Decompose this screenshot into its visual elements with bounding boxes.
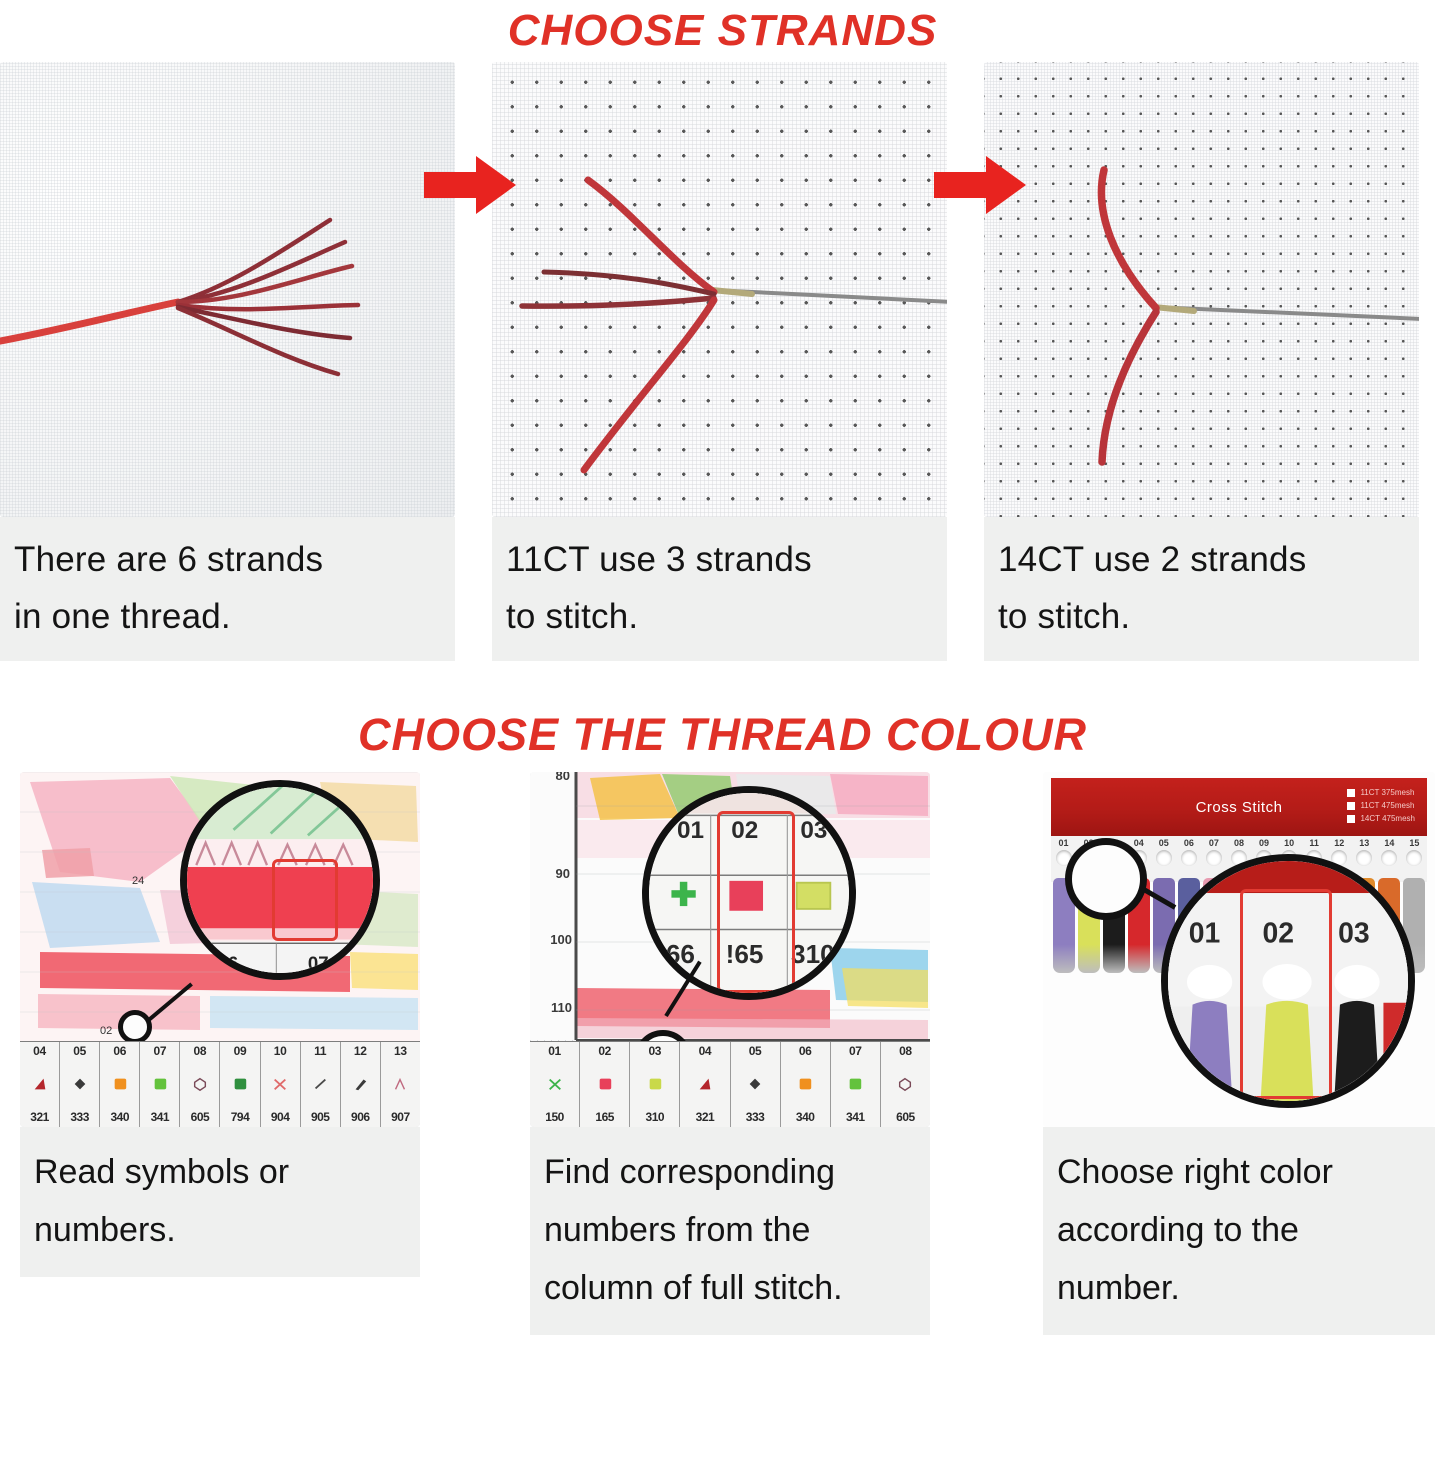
photo-thread-organizer: Cross Stitch 11CT 375mesh11CT 475mesh14C…	[1043, 772, 1435, 1127]
legend-thread-code: 794	[231, 1110, 250, 1124]
checkbox-icon[interactable]	[1347, 789, 1355, 797]
triangle-icon	[31, 1076, 49, 1092]
legend-number: 07	[849, 1044, 862, 1058]
caption-read-symbols: Read symbols or numbers.	[20, 1127, 420, 1277]
photo-six-strands	[0, 62, 455, 517]
checkbox-icon[interactable]	[1347, 815, 1355, 823]
arrow-right-icon	[420, 150, 520, 220]
caption-line: Read symbols or	[34, 1143, 408, 1201]
chart-axis-labels-left	[22, 772, 64, 1041]
svg-text:80: 80	[556, 772, 570, 783]
colour-card-row: 24 02	[0, 772, 1445, 1472]
organizer-option[interactable]: 11CT 375mesh	[1347, 788, 1415, 797]
legend-thread-code: 333	[70, 1110, 89, 1124]
legend-number: 07	[153, 1044, 166, 1058]
caption-11ct: 11CT use 3 strands to stitch.	[492, 517, 947, 661]
brush-icon	[351, 1076, 369, 1092]
thread-peg-number: 14	[1384, 838, 1394, 848]
colour-card-find-numbers: 80 90 100 110 01 02 03	[530, 772, 930, 1335]
caption-line: There are 6 strands	[14, 531, 441, 588]
legend-cell: 02165	[580, 1042, 630, 1127]
legend-thread-code: 605	[191, 1110, 210, 1124]
green-square-icon	[151, 1076, 169, 1092]
caption-line: according to the	[1057, 1201, 1423, 1259]
strands-card-row: There are 6 strands in one thread. 11CT …	[0, 62, 1445, 702]
caption-find-numbers: Find corresponding numbers from the colu…	[530, 1127, 930, 1335]
legend-number: 13	[394, 1044, 407, 1058]
caption-line: Choose right color	[1057, 1143, 1423, 1201]
caption-14ct: 14CT use 2 strands to stitch.	[984, 517, 1419, 661]
checkbox-icon[interactable]	[1347, 802, 1355, 810]
organizer-option-list: 11CT 375mesh11CT 475mesh14CT 475mesh	[1347, 788, 1415, 823]
three-strands-and-needle-illustration	[492, 62, 947, 517]
legend-thread-code: 333	[746, 1110, 765, 1124]
legend-number: 09	[234, 1044, 247, 1058]
thread-peg-number: 08	[1234, 838, 1244, 848]
legend-thread-code: 341	[846, 1110, 865, 1124]
caption-line: Find corresponding	[544, 1143, 918, 1201]
legend-thread-code: 321	[696, 1110, 715, 1124]
caption-line: in one thread.	[14, 588, 441, 645]
diagonal-line-icon	[311, 1076, 329, 1092]
legend-number: 10	[274, 1044, 287, 1058]
two-strands-and-needle-illustration	[984, 62, 1419, 517]
organizer-option[interactable]: 11CT 475mesh	[1347, 801, 1415, 810]
legend-cell: 06340	[100, 1042, 140, 1127]
legend-number: 08	[194, 1044, 207, 1058]
diamond-icon	[71, 1076, 89, 1092]
svg-text:66: 66	[666, 939, 695, 969]
organizer-option-label: 14CT 475mesh	[1360, 814, 1415, 823]
legend-cell: 10904	[261, 1042, 301, 1127]
triangle-icon	[696, 1076, 714, 1092]
svg-text:07: 07	[308, 952, 329, 973]
caption-line: column of full stitch.	[544, 1259, 918, 1317]
legend-thread-code: 605	[896, 1110, 915, 1124]
photo-pattern-chart-numbers: 80 90 100 110 01 02 03	[530, 772, 930, 1127]
six-strand-threads-illustration	[0, 62, 455, 517]
section-heading-choose-strands: CHOOSE STRANDS	[0, 0, 1445, 62]
orange-square-icon	[796, 1076, 814, 1092]
strands-card-6-strands: There are 6 strands in one thread.	[0, 62, 455, 702]
legend-cell: 05333	[731, 1042, 781, 1127]
legend-number: 05	[749, 1044, 762, 1058]
thread-peg-number: 15	[1409, 838, 1419, 848]
caption-line: 11CT use 3 strands	[506, 531, 933, 588]
photo-14ct-aida	[984, 62, 1419, 517]
legend-cell: 07341	[140, 1042, 180, 1127]
legend-number: 04	[33, 1044, 46, 1058]
magnifier-thread-numbers: 01 02 03	[1161, 854, 1415, 1108]
thread-peg-number: 11	[1309, 838, 1319, 848]
legend-cell: 13907	[381, 1042, 420, 1127]
thread-peg-number: 06	[1184, 838, 1194, 848]
thread-peg-number: 04	[1134, 838, 1144, 848]
dark-green-square-icon	[231, 1076, 249, 1092]
organizer-option-label: 11CT 375mesh	[1360, 788, 1414, 797]
cross-icon	[546, 1076, 564, 1092]
legend-number: 11	[314, 1044, 326, 1058]
svg-text:24: 24	[132, 875, 144, 887]
highlight-box-symbol	[272, 859, 338, 941]
colour-card-read-symbols: 24 02	[20, 772, 420, 1277]
svg-text:100: 100	[550, 932, 572, 947]
hexagon-outline-icon	[191, 1076, 209, 1092]
thread-peg-number: 09	[1259, 838, 1269, 848]
svg-text:03: 03	[1338, 917, 1370, 949]
thread-peg-number: 01	[1059, 838, 1069, 848]
legend-thread-code: 321	[30, 1110, 49, 1124]
magnifier-numbers: 01 02 03 66 !65 310	[642, 786, 856, 1000]
caption-line: numbers from the	[544, 1201, 918, 1259]
caption-line: numbers.	[34, 1201, 408, 1259]
peg-hole-icon	[1406, 850, 1422, 866]
legend-number: 06	[799, 1044, 812, 1058]
legend-number: 01	[548, 1044, 561, 1058]
legend-number: 06	[113, 1044, 126, 1058]
legend-cell: 06340	[781, 1042, 831, 1127]
legend-thread-code: 165	[595, 1110, 614, 1124]
legend-number: 08	[899, 1044, 912, 1058]
legend-cell: 08605	[881, 1042, 930, 1127]
svg-text:02: 02	[100, 1025, 112, 1037]
thread-peg-number: 10	[1284, 838, 1294, 848]
photo-pattern-chart-symbols: 24 02	[20, 772, 420, 1127]
svg-text:6: 6	[228, 952, 238, 973]
highlight-box-thread-02	[1240, 889, 1332, 1099]
legend-thread-code: 150	[545, 1110, 564, 1124]
thread-peg-number: 12	[1334, 838, 1344, 848]
cross-icon	[271, 1076, 289, 1092]
svg-text:310: 310	[791, 939, 835, 969]
strands-card-14ct: 14CT use 2 strands to stitch.	[984, 62, 1419, 702]
legend-thread-code: 907	[391, 1110, 410, 1124]
svg-text:01: 01	[677, 817, 704, 844]
thread-peg-number: 05	[1159, 838, 1169, 848]
legend-number: 05	[73, 1044, 86, 1058]
thread-peg-number: 13	[1359, 838, 1369, 848]
chevron-icon	[391, 1076, 409, 1092]
green-square-icon	[846, 1076, 864, 1092]
magnifier-target-circle	[1065, 838, 1147, 920]
legend-number: 04	[699, 1044, 712, 1058]
organizer-option[interactable]: 14CT 475mesh	[1347, 814, 1415, 823]
caption-line: to stitch.	[506, 588, 933, 645]
orange-square-icon	[111, 1076, 129, 1092]
svg-text:90: 90	[556, 866, 570, 881]
organizer-title: Cross Stitch	[1196, 799, 1283, 816]
caption-choose-colour: Choose right color according to the numb…	[1043, 1127, 1435, 1335]
number-legend-table: 0115002165033100432105333063400734108605	[530, 1041, 930, 1127]
hexagon-outline-icon	[896, 1076, 914, 1092]
legend-thread-code: 904	[271, 1110, 290, 1124]
svg-text:110: 110	[551, 1000, 572, 1015]
arrow-right-icon	[930, 150, 1030, 220]
diamond-icon	[746, 1076, 764, 1092]
svg-text:01: 01	[1189, 917, 1221, 949]
legend-thread-code: 341	[151, 1110, 170, 1124]
organizer-header: Cross Stitch 11CT 375mesh11CT 475mesh14C…	[1051, 778, 1427, 836]
legend-number: 02	[598, 1044, 611, 1058]
section-heading-choose-thread-colour: CHOOSE THE THREAD COLOUR	[0, 702, 1445, 772]
legend-thread-code: 906	[351, 1110, 370, 1124]
symbol-legend-table: 0432105333063400734108605097941090411905…	[20, 1041, 420, 1127]
organizer-option-label: 11CT 475mesh	[1360, 801, 1414, 810]
legend-cell: 08605	[180, 1042, 220, 1127]
colour-card-choose-colour: Cross Stitch 11CT 375mesh11CT 475mesh14C…	[1043, 772, 1435, 1335]
legend-cell: 01150	[530, 1042, 580, 1127]
magnifier-symbols: 07 6	[180, 780, 380, 980]
strands-card-11ct: 11CT use 3 strands to stitch.	[492, 62, 947, 702]
legend-number: 12	[354, 1044, 367, 1058]
legend-thread-code: 310	[646, 1110, 665, 1124]
legend-cell: 05333	[60, 1042, 100, 1127]
svg-text:03: 03	[800, 817, 827, 844]
yellow-square-icon	[646, 1076, 664, 1092]
legend-cell: 07341	[831, 1042, 881, 1127]
legend-thread-code: 905	[311, 1110, 330, 1124]
legend-cell: 04321	[680, 1042, 730, 1127]
legend-cell: 09794	[220, 1042, 260, 1127]
legend-cell: 04321	[20, 1042, 60, 1127]
legend-cell: 03310	[630, 1042, 680, 1127]
caption-line: to stitch.	[998, 588, 1405, 645]
caption-6-strands: There are 6 strands in one thread.	[0, 517, 455, 661]
legend-thread-code: 340	[110, 1110, 129, 1124]
legend-thread-code: 340	[796, 1110, 815, 1124]
thread-peg-number: 07	[1209, 838, 1219, 848]
photo-11ct-aida	[492, 62, 947, 517]
legend-number: 03	[648, 1044, 661, 1058]
highlight-box-column-02	[717, 811, 795, 993]
caption-line: number.	[1057, 1259, 1423, 1317]
pink-square-icon	[596, 1076, 614, 1092]
caption-line: 14CT use 2 strands	[998, 531, 1405, 588]
legend-cell: 12906	[341, 1042, 381, 1127]
magnifier-target-circle	[118, 1010, 152, 1044]
legend-cell: 11905	[301, 1042, 341, 1127]
